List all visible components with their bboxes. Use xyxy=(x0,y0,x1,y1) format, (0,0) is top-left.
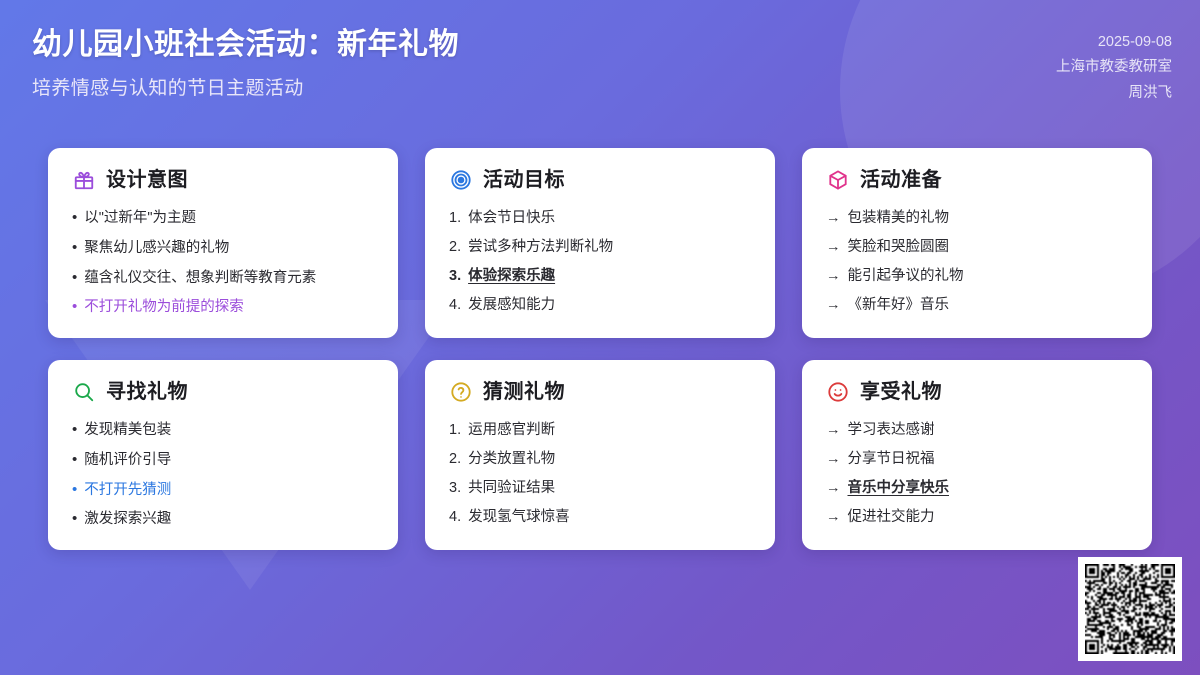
list-item: 3.共同验证结果 xyxy=(449,479,751,497)
list-item-marker: → xyxy=(826,450,841,468)
list-item-text: 能引起争议的礼物 xyxy=(848,267,964,285)
list-item-marker: 4. xyxy=(449,508,461,526)
meta-organization: 上海市教委教研室 xyxy=(1056,55,1172,80)
card-header: 寻找礼物 xyxy=(72,380,374,403)
target-icon xyxy=(449,168,472,191)
list-item-marker: → xyxy=(826,267,841,285)
list-item: 2.尝试多种方法判断礼物 xyxy=(449,238,751,256)
list-item: →《新年好》音乐 xyxy=(826,296,1128,314)
list-item-text: 尝试多种方法判断礼物 xyxy=(468,238,613,256)
list-item-text: 蕴含礼仪交往、想象判断等教育元素 xyxy=(84,269,316,287)
list-item-marker: • xyxy=(72,451,77,470)
card-2: 活动目标1.体会节日快乐2.尝试多种方法判断礼物3.体验探索乐趣4.发展感知能力 xyxy=(425,148,775,338)
list-item-marker: 1. xyxy=(449,421,461,439)
list-item-text: 促进社交能力 xyxy=(848,508,935,526)
list-item-text: 以"过新年"为主题 xyxy=(84,209,196,227)
card-item-list: →学习表达感谢→分享节日祝福→音乐中分享快乐→促进社交能力 xyxy=(826,421,1128,527)
slide-root: 幼儿园小班社会活动：新年礼物 培养情感与认知的节日主题活动 2025-09-08… xyxy=(0,0,1200,675)
list-item-marker: • xyxy=(72,510,77,529)
list-item-marker: 2. xyxy=(449,450,461,468)
list-item-marker: • xyxy=(72,421,77,440)
list-item-marker: • xyxy=(72,239,77,258)
list-item: →音乐中分享快乐 xyxy=(826,479,1128,497)
list-item-marker: → xyxy=(826,421,841,439)
meta-date: 2025-09-08 xyxy=(1056,30,1172,55)
list-item-marker: → xyxy=(826,209,841,227)
list-item-text: 运用感官判断 xyxy=(468,421,555,439)
cube-icon xyxy=(826,168,849,191)
list-item-marker: • xyxy=(72,298,77,317)
list-item-marker: 2. xyxy=(449,238,461,256)
list-item-marker: 1. xyxy=(449,209,461,227)
card-item-list: •发现精美包装•随机评价引导•不打开先猜测•激发探索兴趣 xyxy=(72,421,374,529)
list-item: •聚焦幼儿感兴趣的礼物 xyxy=(72,239,374,258)
list-item: 4.发展感知能力 xyxy=(449,296,751,314)
list-item-marker: → xyxy=(826,479,841,497)
list-item-marker: • xyxy=(72,209,77,228)
list-item-marker: • xyxy=(72,481,77,500)
list-item: 4.发现氢气球惊喜 xyxy=(449,508,751,526)
card-title: 活动目标 xyxy=(483,170,565,190)
list-item-text: 不打开先猜测 xyxy=(84,481,171,499)
qr-code-container[interactable] xyxy=(1078,557,1182,661)
card-header: 活动目标 xyxy=(449,168,751,191)
card-3: 活动准备→包装精美的礼物→笑脸和哭脸圆圈→能引起争议的礼物→《新年好》音乐 xyxy=(802,148,1152,338)
list-item: •激发探索兴趣 xyxy=(72,510,374,529)
card-title: 猜测礼物 xyxy=(483,382,565,402)
list-item: •不打开先猜测 xyxy=(72,481,374,500)
list-item: •发现精美包装 xyxy=(72,421,374,440)
page-subtitle: 培养情感与认知的节日主题活动 xyxy=(32,73,459,100)
list-item-text: 体验探索乐趣 xyxy=(468,267,555,285)
list-item-marker: 3. xyxy=(449,479,461,497)
page-title: 幼儿园小班社会活动：新年礼物 xyxy=(32,26,459,64)
card-header: 活动准备 xyxy=(826,168,1128,191)
list-item: →分享节日祝福 xyxy=(826,450,1128,468)
title-block: 幼儿园小班社会活动：新年礼物 培养情感与认知的节日主题活动 xyxy=(32,22,459,100)
card-item-list: 1.体会节日快乐2.尝试多种方法判断礼物3.体验探索乐趣4.发展感知能力 xyxy=(449,209,751,315)
card-4: 寻找礼物•发现精美包装•随机评价引导•不打开先猜测•激发探索兴趣 xyxy=(48,360,398,550)
card-title: 享受礼物 xyxy=(860,382,942,402)
list-item: →包装精美的礼物 xyxy=(826,209,1128,227)
card-item-list: •以"过新年"为主题•聚焦幼儿感兴趣的礼物•蕴含礼仪交往、想象判断等教育元素•不… xyxy=(72,209,374,317)
card-item-list: 1.运用感官判断2.分类放置礼物3.共同验证结果4.发现氢气球惊喜 xyxy=(449,421,751,527)
qr-code xyxy=(1085,564,1175,654)
list-item-text: 共同验证结果 xyxy=(468,479,555,497)
meta-author: 周洪飞 xyxy=(1056,81,1172,106)
list-item-text: 聚焦幼儿感兴趣的礼物 xyxy=(84,239,229,257)
list-item-marker: → xyxy=(826,508,841,526)
list-item-text: 发展感知能力 xyxy=(468,296,555,314)
card-title: 设计意图 xyxy=(106,170,188,190)
list-item-text: 音乐中分享快乐 xyxy=(848,479,950,497)
list-item: →笑脸和哭脸圆圈 xyxy=(826,238,1128,256)
list-item: →学习表达感谢 xyxy=(826,421,1128,439)
list-item-text: 学习表达感谢 xyxy=(848,421,935,439)
list-item-marker: → xyxy=(826,238,841,256)
card-header: 猜测礼物 xyxy=(449,380,751,403)
list-item-text: 笑脸和哭脸圆圈 xyxy=(848,238,950,256)
list-item-text: 不打开礼物为前提的探索 xyxy=(84,298,244,316)
search-icon xyxy=(72,380,95,403)
list-item-text: 发现氢气球惊喜 xyxy=(468,508,570,526)
list-item: →能引起争议的礼物 xyxy=(826,267,1128,285)
card-header: 享受礼物 xyxy=(826,380,1128,403)
list-item-marker: • xyxy=(72,269,77,288)
card-grid: 设计意图•以"过新年"为主题•聚焦幼儿感兴趣的礼物•蕴含礼仪交往、想象判断等教育… xyxy=(48,148,1152,550)
list-item: •蕴含礼仪交往、想象判断等教育元素 xyxy=(72,269,374,288)
list-item-text: 随机评价引导 xyxy=(84,451,171,469)
card-header: 设计意图 xyxy=(72,168,374,191)
list-item-text: 发现精美包装 xyxy=(84,421,171,439)
card-title: 活动准备 xyxy=(860,170,942,190)
list-item-marker: → xyxy=(826,296,841,314)
list-item-text: 分享节日祝福 xyxy=(848,450,935,468)
question-circle-icon xyxy=(449,380,472,403)
list-item: →促进社交能力 xyxy=(826,508,1128,526)
list-item-text: 体会节日快乐 xyxy=(468,209,555,227)
gift-icon xyxy=(72,168,95,191)
list-item-text: 包装精美的礼物 xyxy=(848,209,950,227)
list-item: 2.分类放置礼物 xyxy=(449,450,751,468)
list-item-marker: 3. xyxy=(449,267,461,285)
card-title: 寻找礼物 xyxy=(106,382,188,402)
smiley-icon xyxy=(826,380,849,403)
list-item-marker: 4. xyxy=(449,296,461,314)
card-5: 猜测礼物1.运用感官判断2.分类放置礼物3.共同验证结果4.发现氢气球惊喜 xyxy=(425,360,775,550)
list-item: •以"过新年"为主题 xyxy=(72,209,374,228)
card-1: 设计意图•以"过新年"为主题•聚焦幼儿感兴趣的礼物•蕴含礼仪交往、想象判断等教育… xyxy=(48,148,398,338)
card-item-list: →包装精美的礼物→笑脸和哭脸圆圈→能引起争议的礼物→《新年好》音乐 xyxy=(826,209,1128,315)
header-meta: 2025-09-08 上海市教委教研室 周洪飞 xyxy=(1056,22,1172,106)
list-item: 1.运用感官判断 xyxy=(449,421,751,439)
list-item-text: 分类放置礼物 xyxy=(468,450,555,468)
card-6: 享受礼物→学习表达感谢→分享节日祝福→音乐中分享快乐→促进社交能力 xyxy=(802,360,1152,550)
list-item: 1.体会节日快乐 xyxy=(449,209,751,227)
list-item: •不打开礼物为前提的探索 xyxy=(72,298,374,317)
list-item: 3.体验探索乐趣 xyxy=(449,267,751,285)
list-item-text: 《新年好》音乐 xyxy=(848,296,950,314)
list-item: •随机评价引导 xyxy=(72,451,374,470)
slide-header: 幼儿园小班社会活动：新年礼物 培养情感与认知的节日主题活动 2025-09-08… xyxy=(0,0,1200,130)
list-item-text: 激发探索兴趣 xyxy=(84,510,171,528)
